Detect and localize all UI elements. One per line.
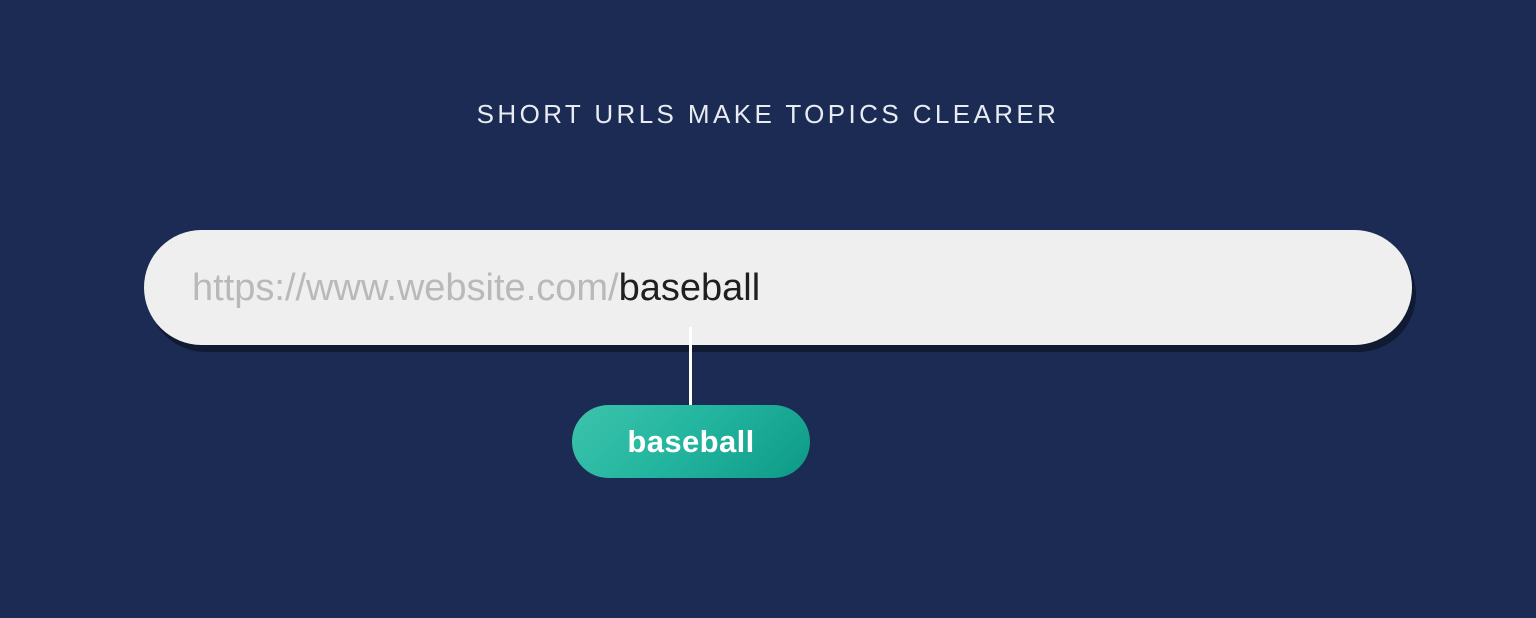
url-text: https://www.website.com/baseball xyxy=(192,266,760,310)
topic-tag-pill[interactable]: baseball xyxy=(572,405,810,478)
topic-tag-label: baseball xyxy=(627,424,754,460)
url-base-text: https://www.website.com/ xyxy=(192,267,619,309)
connector-line xyxy=(689,327,692,409)
url-slug-text: baseball xyxy=(619,267,761,309)
illustration-canvas: SHORT URLS MAKE TOPICS CLEARER https://w… xyxy=(0,0,1536,618)
page-title: SHORT URLS MAKE TOPICS CLEARER xyxy=(0,96,1536,132)
url-input-bar[interactable]: https://www.website.com/baseball xyxy=(144,230,1412,345)
